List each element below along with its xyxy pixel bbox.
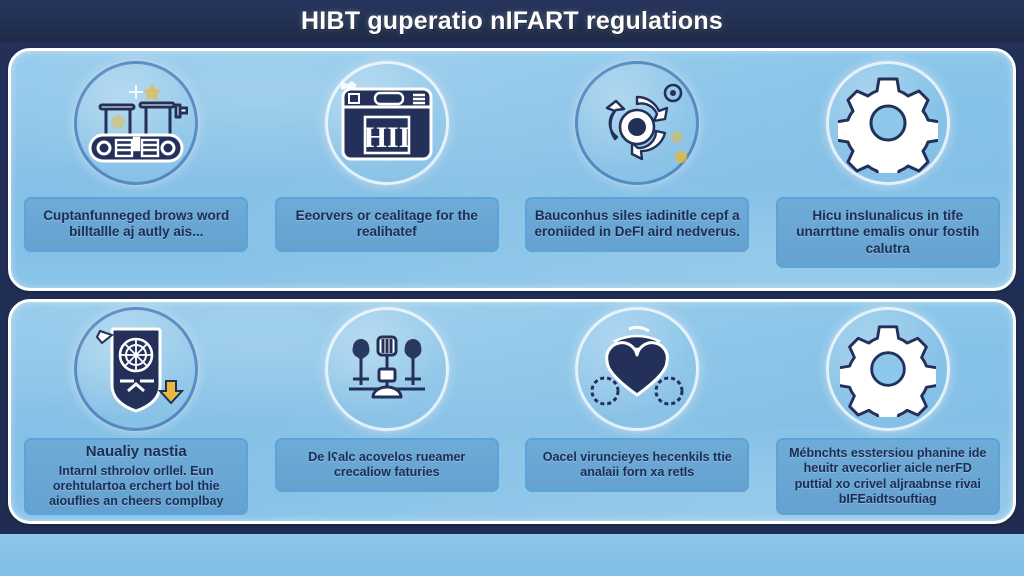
shield-badge-icon (84, 321, 188, 417)
browser-window-hii-icon: HII (335, 77, 439, 169)
icon-container (573, 59, 701, 187)
slide-canvas: HIBT guperatio nIFART regulations (0, 0, 1024, 576)
icon-container (824, 59, 952, 187)
card-bottom-3[interactable]: Oacel viruncieyes hecenkils ttie analaii… (512, 302, 763, 521)
page-title: HIBT guperatio nIFART regulations (301, 7, 723, 36)
card-caption: Eeorvers or cealitage for the realіhatef (275, 197, 499, 252)
card-caption: Naualiy nastia Intarnl sthrolov orllel. … (24, 438, 248, 515)
bottom-strip (0, 534, 1024, 576)
content-frame: Cuptanfunneged browз word billtallle aj … (0, 42, 1024, 534)
bottom-panel: Naualiy nastia Intarnl sthrolov orllel. … (8, 299, 1016, 524)
factory-conveyor-icon (84, 77, 188, 169)
icon-container: HII (323, 59, 451, 187)
card-caption: De lʕalc acovelos rueamer crecaliow fatu… (275, 438, 499, 492)
title-bar: HIBT guperatio nIFART regulations (0, 0, 1024, 42)
gear-icon (838, 73, 938, 173)
card-caption: Hicu insIunalicus in tife unarrttıne ema… (776, 197, 1000, 268)
icon-container (327, 310, 447, 428)
card-top-3[interactable]: Bauconhus siles iadinitle cepf a eroniid… (512, 51, 763, 288)
network-share-pinwheel-icon (585, 77, 689, 169)
svg-text:HII: HII (363, 121, 410, 154)
card-bottom-2[interactable]: De lʕalc acovelos rueamer crecaliow fatu… (262, 302, 513, 521)
icon-container (72, 59, 200, 187)
card-caption: Cuptanfunneged browз word billtallle aj … (24, 197, 248, 252)
network-nodes-icon (335, 323, 439, 415)
card-caption: Mébnchts esstersiou phanine ide heuitr a… (776, 438, 1000, 515)
card-bottom-4[interactable]: Mébnchts esstersiou phanine ide heuitr a… (763, 302, 1014, 521)
card-caption: Bauconhus siles iadinitle cepf a eroniid… (525, 197, 749, 252)
card-caption: Oacel viruncieyes hecenkils ttie analaii… (525, 438, 749, 492)
gear-icon (840, 321, 936, 417)
card-top-4[interactable]: Hicu insIunalicus in tife unarrttıne ema… (763, 51, 1014, 288)
card-caption-body: Intarnl sthrolov orllel. Eun orehtularto… (49, 464, 223, 509)
top-panel: Cuptanfunneged browз word billtallle aj … (8, 48, 1016, 291)
icon-container (577, 310, 697, 428)
icon-container (76, 310, 196, 428)
card-bottom-1[interactable]: Naualiy nastia Intarnl sthrolov orllel. … (11, 302, 262, 521)
card-top-2[interactable]: HII Eeorvers or cealitage for the realіh… (262, 51, 513, 288)
card-caption-title: Naualiy nastia (32, 443, 240, 461)
card-top-1[interactable]: Cuptanfunneged browз word billtallle aj … (11, 51, 262, 288)
heart-rings-icon (585, 323, 689, 415)
icon-container (828, 310, 948, 428)
